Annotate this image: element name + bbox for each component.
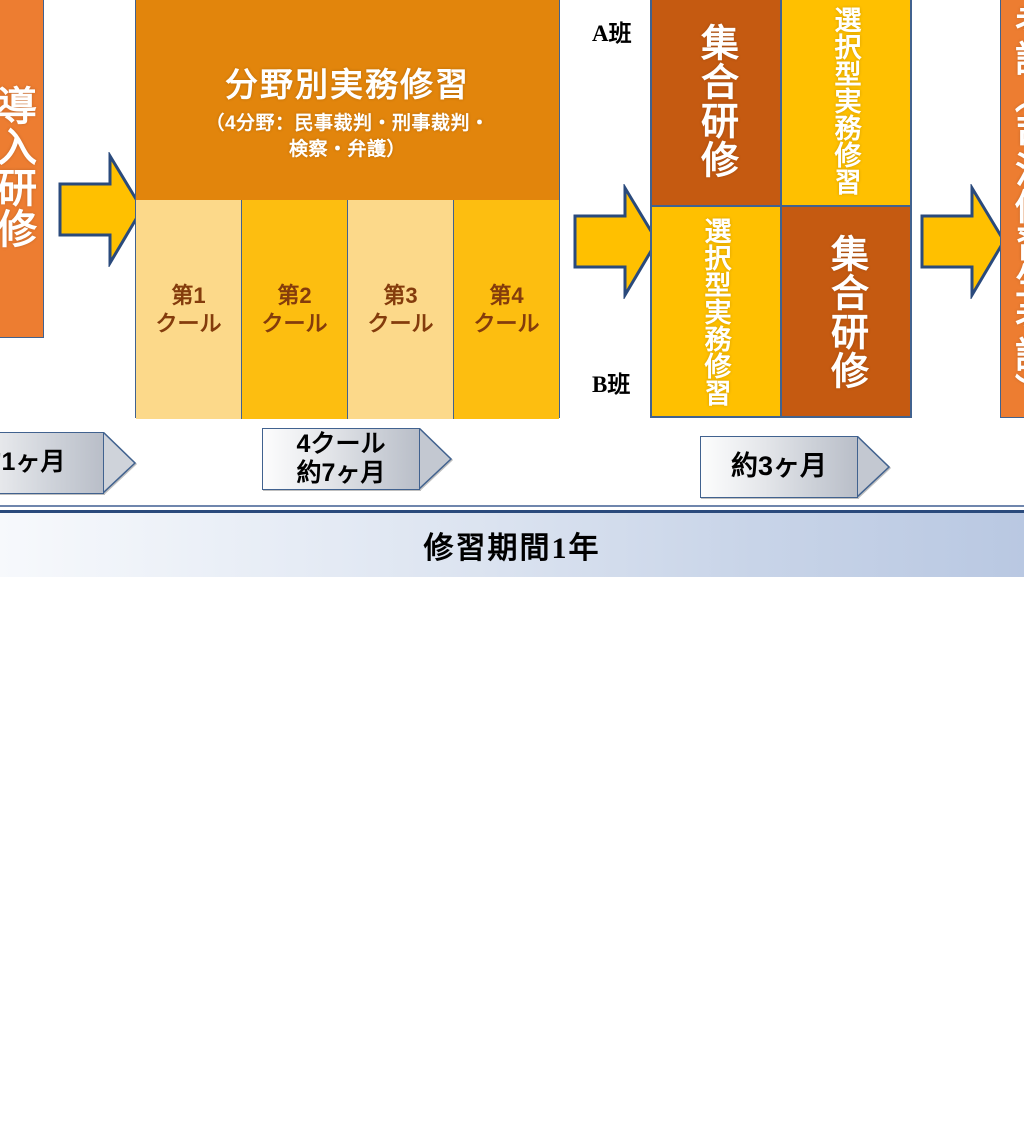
cour-cell-2-line1: 第2	[277, 282, 311, 310]
training-flow-diagram: 導入研修 分野別実務修習 （4分野：民事裁判・刑事裁判・ 検察・弁護） 第1 ク…	[0, 0, 1024, 574]
cour-cell-1-line2: クール	[155, 310, 221, 338]
stage-field-training: 分野別実務修習 （4分野：民事裁判・刑事裁判・ 検察・弁護） 第1 クール 第2…	[135, 0, 560, 418]
duration-banner-group-body: 約3ヶ月	[700, 436, 858, 498]
duration-banner-field-tip	[419, 428, 453, 490]
group-b-label: B班	[592, 365, 630, 399]
cour-cell-2-line2: クール	[261, 310, 327, 338]
group-cell-a-collective-label: 集合研修	[652, 0, 780, 205]
group-cell-b-elective: 選択型実務修習	[651, 206, 781, 417]
field-training-header: 分野別実務修習 （4分野：民事裁判・刑事裁判・ 検察・弁護）	[136, 0, 559, 199]
duration-banner-intro: 約1ヶ月	[0, 432, 138, 494]
cour-cell-3-line2: クール	[367, 310, 433, 338]
group-cell-a-collective: 集合研修	[651, 0, 781, 206]
duration-banner-intro-line1: 約1ヶ月	[0, 448, 65, 478]
cour-cell-4-line1: 第4	[489, 282, 523, 310]
field-training-title: 分野別実務修習	[225, 58, 470, 106]
duration-banner-intro-body: 約1ヶ月	[0, 432, 104, 494]
arrow-field-to-group	[573, 184, 659, 299]
cour-cell-3: 第3 クール	[348, 200, 454, 419]
cour-cell-4: 第4 クール	[454, 200, 559, 419]
duration-banner-field-line2: 約7ヶ月	[297, 459, 386, 489]
stage-exam: 考試（司法修習生考試）	[1000, 0, 1024, 418]
group-cell-b-collective-label: 集合研修	[782, 207, 910, 416]
group-cell-a-elective-label: 選択型実務修習	[782, 0, 910, 205]
total-period-bar: 修習期間1年	[0, 510, 1024, 577]
cour-cell-2: 第2 クール	[242, 200, 348, 419]
bottom-separator	[0, 505, 1024, 507]
field-training-subtitle-line2: 検察・弁護）	[205, 137, 489, 163]
field-training-subtitle: （4分野：民事裁判・刑事裁判・ 検察・弁護）	[205, 111, 489, 162]
group-cell-a-elective: 選択型実務修習	[781, 0, 911, 206]
group-cell-b-collective: 集合研修	[781, 206, 911, 417]
duration-banner-field-body: 4クール 約7ヶ月	[262, 428, 420, 490]
duration-banner-field-line1: 4クール	[297, 430, 386, 460]
cour-cell-1-line1: 第1	[171, 282, 205, 310]
total-period-label: 修習期間1年	[424, 523, 601, 567]
duration-banner-group-tip	[857, 436, 891, 498]
duration-banner-group-line1: 約3ヶ月	[731, 451, 827, 483]
stage-intro-training-label: 導入研修	[0, 0, 43, 337]
stage-group-training: 集合研修 選択型実務修習 選択型実務修習 集合研修	[650, 0, 912, 418]
group-cell-b-elective-label: 選択型実務修習	[652, 207, 780, 416]
duration-banner-group: 約3ヶ月	[700, 436, 890, 498]
field-training-subtitle-line1: （4分野：民事裁判・刑事裁判・	[205, 111, 489, 137]
group-a-label: A班	[592, 14, 632, 48]
cour-cell-3-line1: 第3	[383, 282, 417, 310]
duration-banner-field: 4クール 約7ヶ月	[262, 428, 452, 490]
cour-cell-4-line2: クール	[473, 310, 539, 338]
cour-row: 第1 クール 第2 クール 第3 クール 第4 クール	[136, 200, 559, 419]
duration-banner-intro-tip	[103, 432, 137, 494]
stage-exam-label: 考試（司法修習生考試）	[1001, 0, 1024, 417]
cour-cell-1: 第1 クール	[136, 200, 242, 419]
arrow-intro-to-field	[58, 152, 144, 267]
stage-intro-training: 導入研修	[0, 0, 44, 338]
arrow-group-to-exam	[920, 184, 1006, 299]
